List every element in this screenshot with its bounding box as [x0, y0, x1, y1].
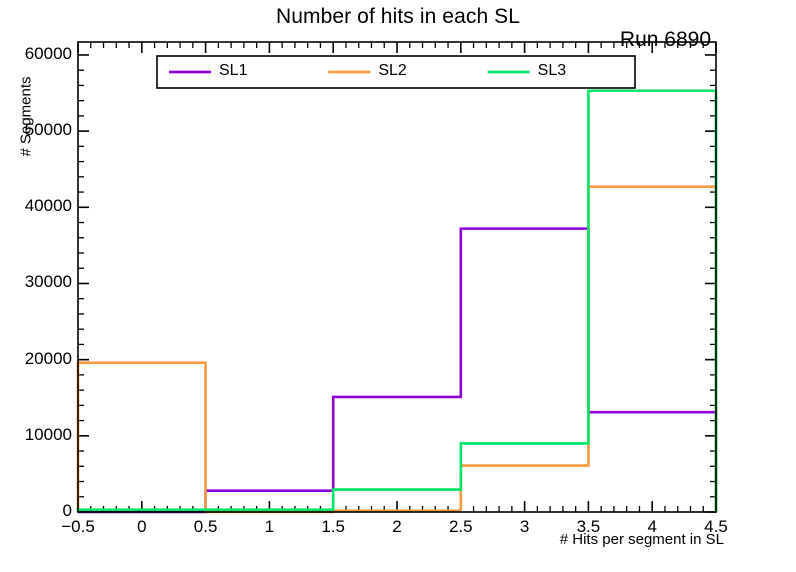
legend-label-sl1[interactable]: SL1 [219, 62, 247, 80]
x-tick-label: 1 [239, 517, 299, 537]
x-tick-label: 4.5 [686, 517, 746, 537]
x-tick-label: 0.5 [176, 517, 236, 537]
series-step-sl2 [78, 187, 716, 512]
histogram-series-layer [78, 91, 716, 512]
plot-frame [78, 42, 716, 512]
y-tick-label: 30000 [0, 272, 72, 292]
x-tick-label: 3.5 [558, 517, 618, 537]
x-tick-label: 4 [622, 517, 682, 537]
legend-label-sl3[interactable]: SL3 [538, 62, 566, 80]
x-tick-label: 1.5 [303, 517, 363, 537]
y-tick-label: 20000 [0, 349, 72, 369]
x-tick-label: 2 [367, 517, 427, 537]
x-tick-label: 2.5 [431, 517, 491, 537]
series-step-sl3 [78, 91, 716, 512]
x-tick-label: 3 [495, 517, 555, 537]
y-tick-label: 60000 [0, 44, 72, 64]
x-tick-label: 0 [112, 517, 172, 537]
x-tick-label: −0.5 [48, 517, 108, 537]
y-tick-label: 40000 [0, 196, 72, 216]
y-tick-label: 10000 [0, 425, 72, 445]
axis-ticks-layer [78, 42, 716, 512]
series-step-sl1 [78, 229, 716, 512]
y-tick-label: 50000 [0, 120, 72, 140]
legend-label-sl2[interactable]: SL2 [378, 62, 406, 80]
chart-canvas [0, 0, 796, 572]
